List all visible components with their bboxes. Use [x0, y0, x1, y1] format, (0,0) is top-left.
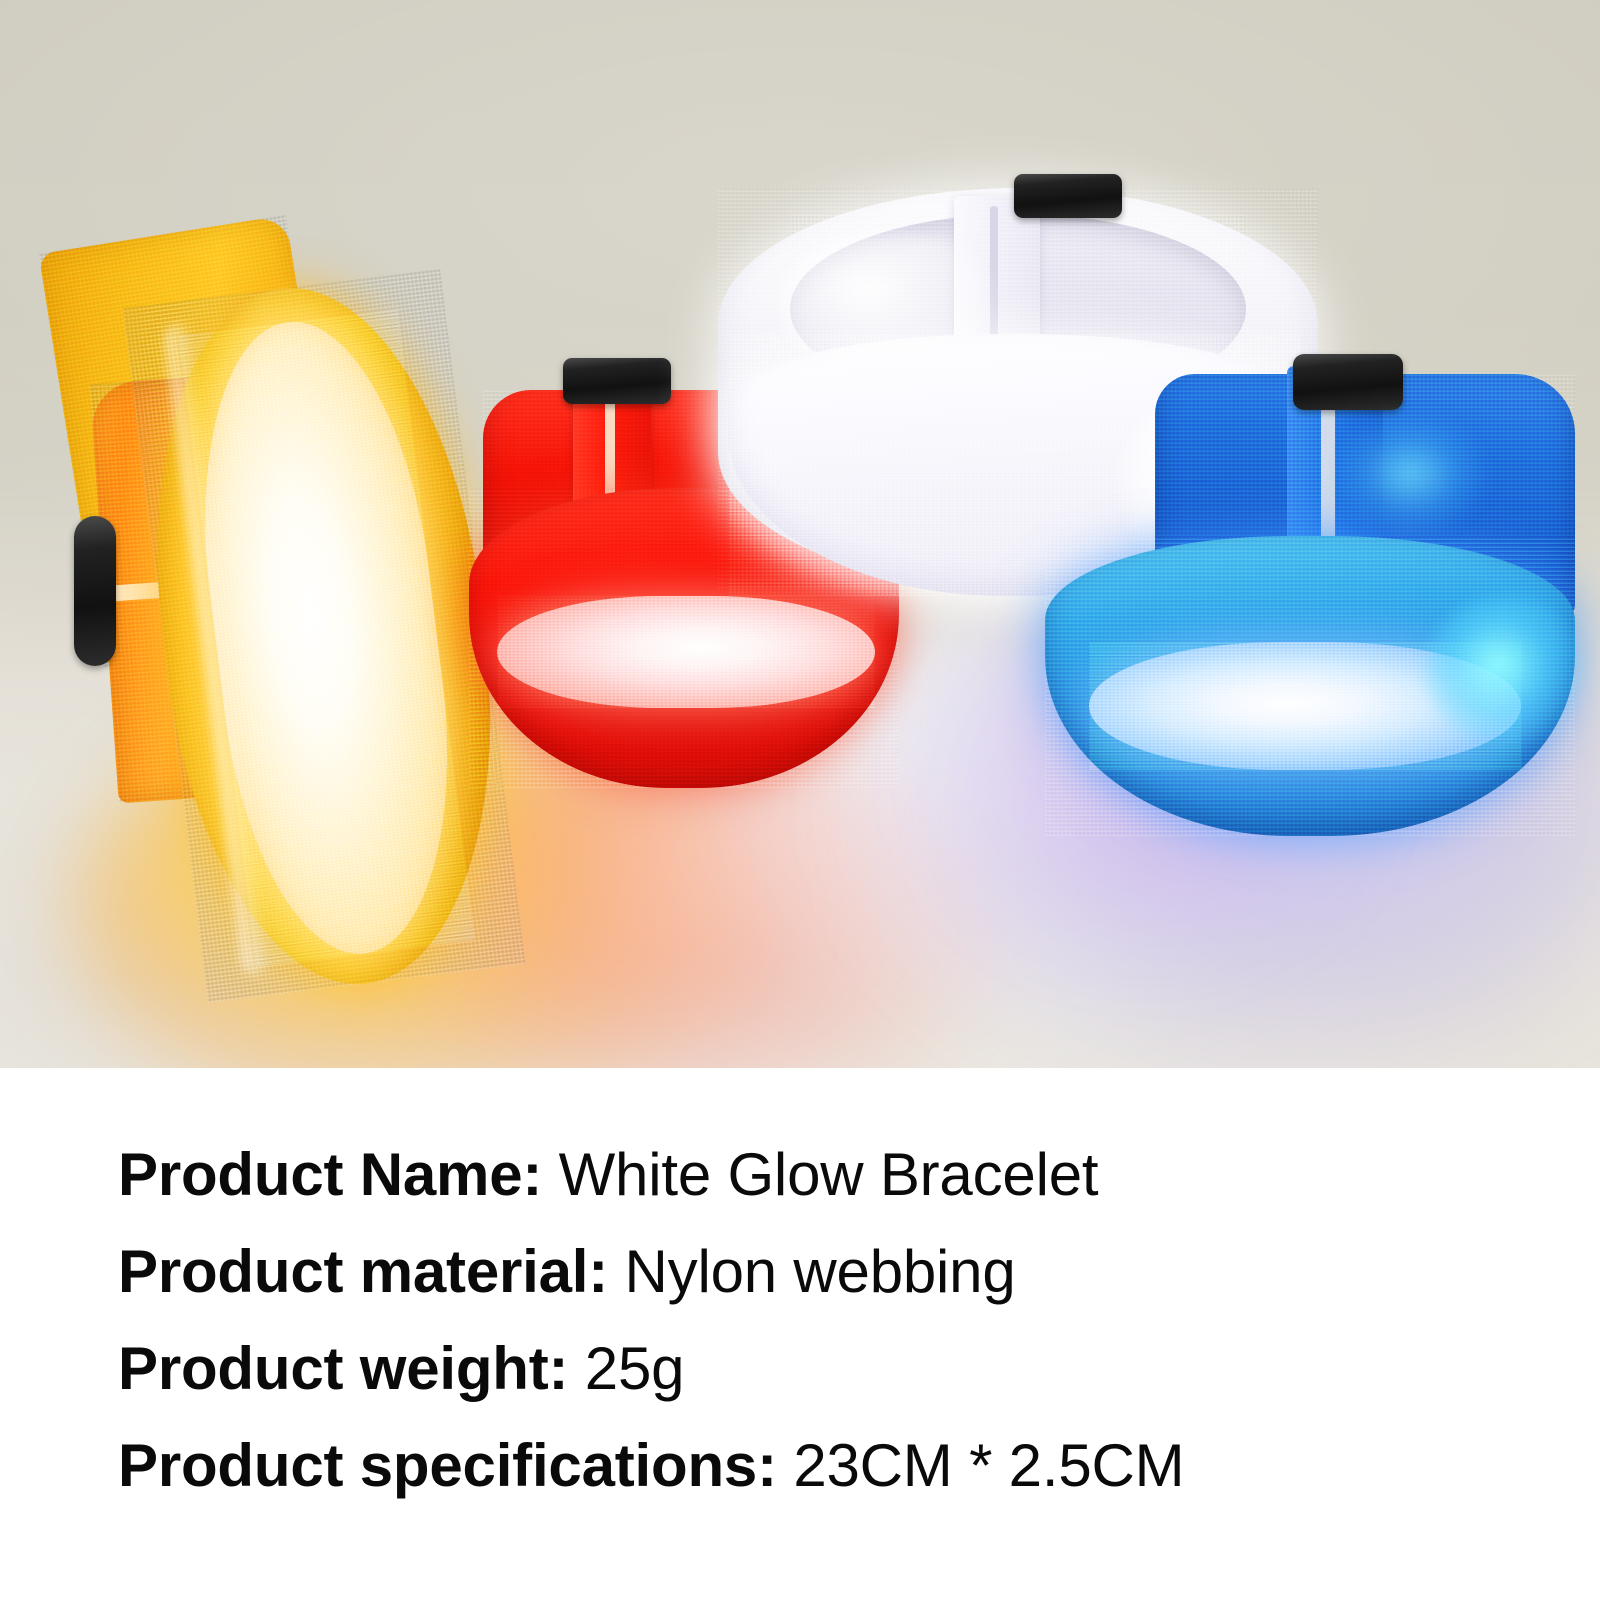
spec-label-name: Product Name: — [118, 1141, 542, 1208]
spec-label-weight: Product weight: — [118, 1335, 568, 1402]
blue-bracelet-highlight-secondary — [1335, 414, 1485, 534]
spec-row-specifications: Product specifications: 23CM * 2.5CM — [118, 1417, 1560, 1514]
red-bracelet-buckle — [563, 358, 671, 404]
blue-bracelet-buckle — [1293, 354, 1403, 410]
spec-value-material: Nylon webbing — [625, 1238, 1016, 1305]
spec-label-material: Product material: — [118, 1238, 608, 1305]
red-bracelet-led-strip — [497, 596, 875, 708]
spec-row-material: Product material: Nylon webbing — [118, 1223, 1560, 1320]
white-bracelet-highlight-secondary — [778, 230, 998, 380]
product-spec-panel: Product Name: White Glow Bracelet Produc… — [0, 1068, 1600, 1600]
spec-value-specifications: 23CM * 2.5CM — [793, 1432, 1184, 1499]
blue-bracelet — [1005, 360, 1595, 830]
yellow-bracelet-buckle — [74, 516, 116, 666]
white-bracelet-buckle — [1014, 174, 1122, 218]
blue-bracelet-highlight — [1425, 596, 1585, 746]
spec-label-specifications: Product specifications: — [118, 1432, 777, 1499]
product-photo — [0, 0, 1600, 1068]
spec-value-name: White Glow Bracelet — [559, 1141, 1099, 1208]
spec-value-weight: 25g — [585, 1335, 685, 1402]
spec-row-name: Product Name: White Glow Bracelet — [118, 1126, 1560, 1223]
yellow-bracelet — [58, 228, 488, 888]
product-spec-list: Product Name: White Glow Bracelet Produc… — [118, 1126, 1560, 1514]
spec-row-weight: Product weight: 25g — [118, 1320, 1560, 1417]
